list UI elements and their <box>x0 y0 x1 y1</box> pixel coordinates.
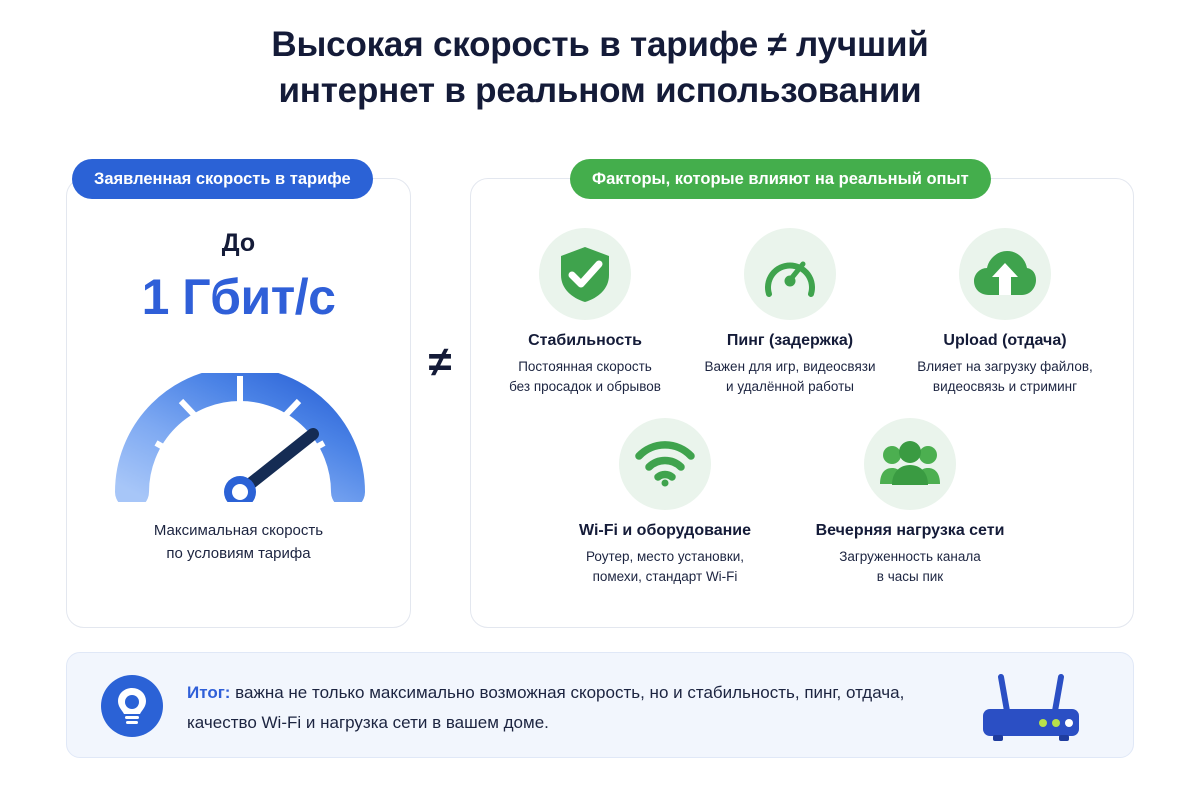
people-group-icon <box>864 418 956 510</box>
summary-label: Итог: <box>187 683 230 702</box>
page-title: Высокая скорость в тарифе ≠ лучший интер… <box>100 22 1100 114</box>
factor-desc-line-2: видеосвязь и стриминг <box>898 377 1112 397</box>
factor-title: Пинг (задержка) <box>690 332 890 350</box>
page-title-line-1: Высокая скорость в тарифе ≠ лучший <box>100 22 1100 68</box>
factor-description: Постоянная скорость без просадок и обрыв… <box>490 357 680 398</box>
wifi-icon <box>619 418 711 510</box>
factor-desc-line-2: помехи, стандарт Wi-Fi <box>565 567 765 587</box>
factor-desc-line-1: Влияет на загрузку файлов, <box>898 357 1112 377</box>
summary-body: важна не только максимально возможная ск… <box>187 683 904 732</box>
not-equal-sign: ≠ <box>411 338 469 386</box>
page-title-line-2: интернет в реальном использовании <box>100 68 1100 114</box>
cloud-upload-icon <box>959 228 1051 320</box>
factor-ping: Пинг (задержка) Важен для игр, видеосвяз… <box>690 228 890 398</box>
factor-stability: Стабильность Постоянная скорость без про… <box>490 228 680 398</box>
router-icon <box>971 673 1091 745</box>
gauge-needle <box>224 434 313 502</box>
factor-title: Стабильность <box>490 332 680 350</box>
infographic-page: Высокая скорость в тарифе ≠ лучший интер… <box>0 0 1200 800</box>
factor-evening-load: Вечерняя нагрузка сети Загруженность кан… <box>800 418 1020 588</box>
factor-desc-line-1: Роутер, место установки, <box>565 547 765 567</box>
factor-desc-line-2: и удалённой работы <box>690 377 890 397</box>
factor-desc-line-1: Важен для игр, видеосвязи <box>690 357 890 377</box>
factor-title: Вечерняя нагрузка сети <box>800 522 1020 540</box>
gauge-caption-line-2: по условиям тарифа <box>166 545 310 562</box>
declared-speed-badge: Заявленная скорость в тарифе <box>72 159 373 199</box>
factor-desc-line-1: Загруженность канала <box>800 547 1020 567</box>
gauge-caption: Максимальная скорость по условиям тарифа <box>66 519 411 566</box>
speed-value: 1 Гбит/с <box>66 268 411 326</box>
factor-description: Влияет на загрузку файлов, видеосвязь и … <box>898 357 1112 398</box>
lightbulb-icon <box>101 675 163 737</box>
factor-desc-line-2: без просадок и обрывов <box>490 377 680 397</box>
factor-desc-line-2: в часы пик <box>800 567 1020 587</box>
gauge-caption-line-1: Максимальная скорость <box>154 522 323 539</box>
summary-text: Итог: важна не только максимально возмож… <box>187 678 977 738</box>
factor-wifi: Wi-Fi и оборудование Роутер, место устан… <box>565 418 765 588</box>
factor-description: Загруженность канала в часы пик <box>800 547 1020 588</box>
real-factors-badge: Факторы, которые влияют на реальный опыт <box>570 159 991 199</box>
summary-box: Итог: важна не только максимально возмож… <box>66 652 1134 758</box>
shield-check-icon <box>539 228 631 320</box>
factor-desc-line-1: Постоянная скорость <box>490 357 680 377</box>
factor-title: Wi-Fi и оборудование <box>565 522 765 540</box>
speedometer-gauge-icon <box>115 352 365 502</box>
factor-description: Роутер, место установки, помехи, стандар… <box>565 547 765 588</box>
speedometer-icon <box>744 228 836 320</box>
factor-upload: Upload (отдача) Влияет на загрузку файло… <box>898 228 1112 398</box>
factor-description: Важен для игр, видеосвязи и удалённой ра… <box>690 357 890 398</box>
factor-title: Upload (отдача) <box>898 332 1112 350</box>
speed-prefix-label: До <box>66 229 411 258</box>
